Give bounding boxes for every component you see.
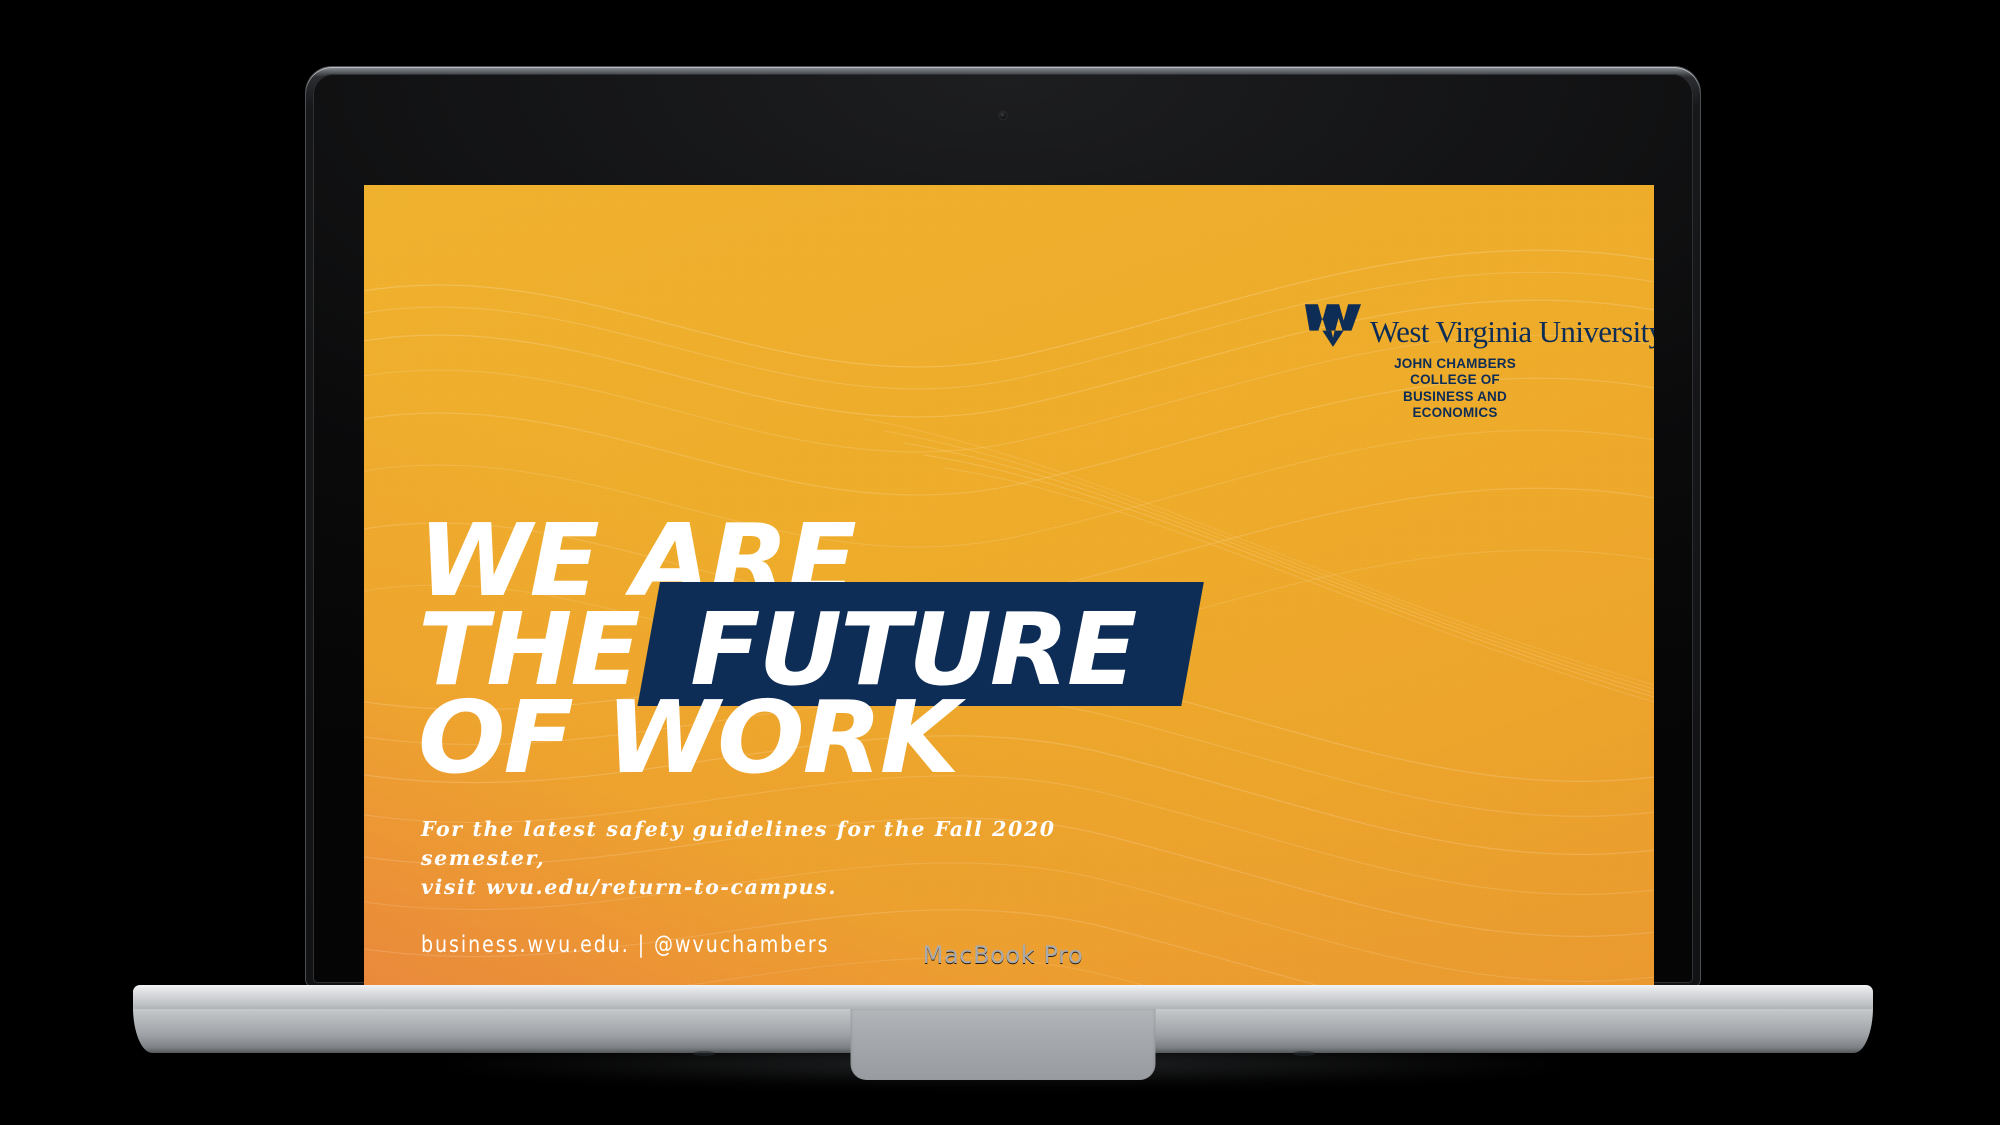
laptop-lid: West Virginia University® JOHN CHAMBERS … bbox=[306, 67, 1700, 987]
laptop-bezel: West Virginia University® JOHN CHAMBERS … bbox=[313, 74, 1693, 983]
presentation-slide: West Virginia University® JOHN CHAMBERS … bbox=[364, 185, 1654, 1020]
laptop-screen[interactable]: West Virginia University® JOHN CHAMBERS … bbox=[364, 185, 1654, 1020]
wvu-wordmark: West Virginia University® bbox=[1370, 318, 1654, 347]
safety-line-1: For the latest safety guidelines for the… bbox=[421, 815, 1181, 873]
laptop-foot-left bbox=[693, 1051, 715, 1056]
wvu-logo-lockup: West Virginia University® JOHN CHAMBERS … bbox=[1305, 303, 1605, 422]
screenshot-stage: West Virginia University® JOHN CHAMBERS … bbox=[0, 0, 2000, 1125]
college-name: JOHN CHAMBERS COLLEGE OF BUSINESS AND EC… bbox=[1305, 356, 1545, 422]
safety-guidelines-text: For the latest safety guidelines for the… bbox=[421, 815, 1181, 902]
laptop-base bbox=[133, 985, 1873, 1053]
laptop-base-notch bbox=[851, 1006, 1156, 1080]
headline-line-3: OF WORK bbox=[418, 694, 1633, 783]
slide-subcopy: For the latest safety guidelines for the… bbox=[421, 815, 1181, 958]
laptop-base-body bbox=[133, 1007, 1873, 1053]
laptop-base-top-edge bbox=[133, 985, 1873, 1009]
macbook-pro-chin-label: MacBook Pro bbox=[313, 941, 1693, 969]
flying-wv-icon bbox=[1305, 303, 1361, 347]
laptop-foot-right bbox=[1293, 1051, 1315, 1056]
macbook-pro-device: West Virginia University® JOHN CHAMBERS … bbox=[0, 0, 2000, 1125]
webcam-icon bbox=[1000, 112, 1007, 119]
college-name-line-2: BUSINESS AND ECONOMICS bbox=[1365, 389, 1545, 422]
slide-headline: WE ARE THE FUTURE OF WORK bbox=[418, 517, 1598, 783]
safety-line-2: visit wvu.edu/return-to-campus. bbox=[421, 873, 1181, 902]
college-name-line-1: JOHN CHAMBERS COLLEGE OF bbox=[1365, 356, 1545, 389]
